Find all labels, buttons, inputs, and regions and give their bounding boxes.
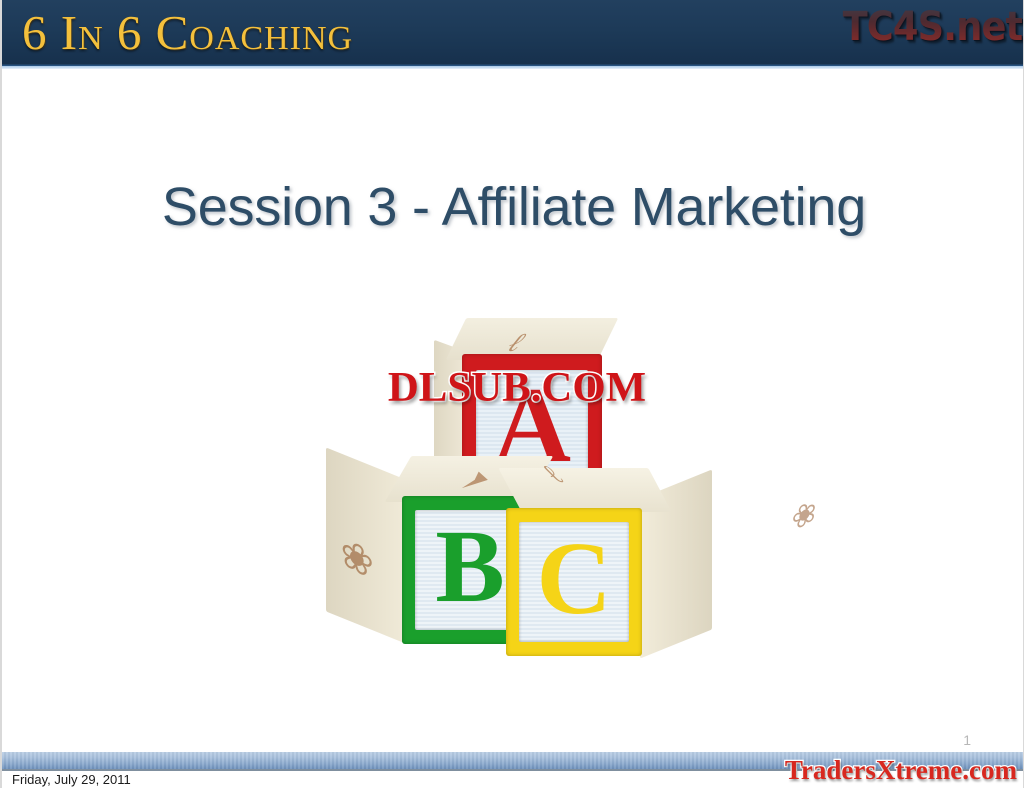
- header-banner: 6 In 6 Coaching TC4S.net: [2, 0, 1024, 66]
- block-b-arrow-icon: ➤: [452, 464, 505, 495]
- tc4s-logo: TC4S.net: [842, 0, 1022, 54]
- slide-title: Session 3 - Affiliate Marketing: [2, 172, 1024, 242]
- brand-title: 6 In 6 Coaching: [22, 4, 353, 62]
- block-c: ❀ ℓ C: [504, 482, 720, 682]
- page-number: 1: [963, 732, 971, 748]
- header-underline: [2, 66, 1024, 69]
- block-b-bee-icon: ❀: [337, 528, 377, 589]
- block-c-letter-panel: C: [519, 522, 629, 642]
- presentation-slide: 6 In 6 Coaching TC4S.net Session 3 - Aff…: [0, 0, 1024, 788]
- footer-date: Friday, July 29, 2011: [12, 772, 131, 788]
- block-c-top-face: ℓ: [498, 468, 671, 512]
- block-c-etching-icon: ❀: [789, 492, 821, 538]
- tradersxtreme-watermark: TradersXtreme.com: [785, 754, 1017, 786]
- dlsub-watermark: DLSUB.COM: [369, 365, 665, 411]
- block-b-side-face: ❀: [326, 447, 408, 644]
- block-c-letter: C: [519, 522, 629, 642]
- block-c-front-face: C: [506, 508, 642, 656]
